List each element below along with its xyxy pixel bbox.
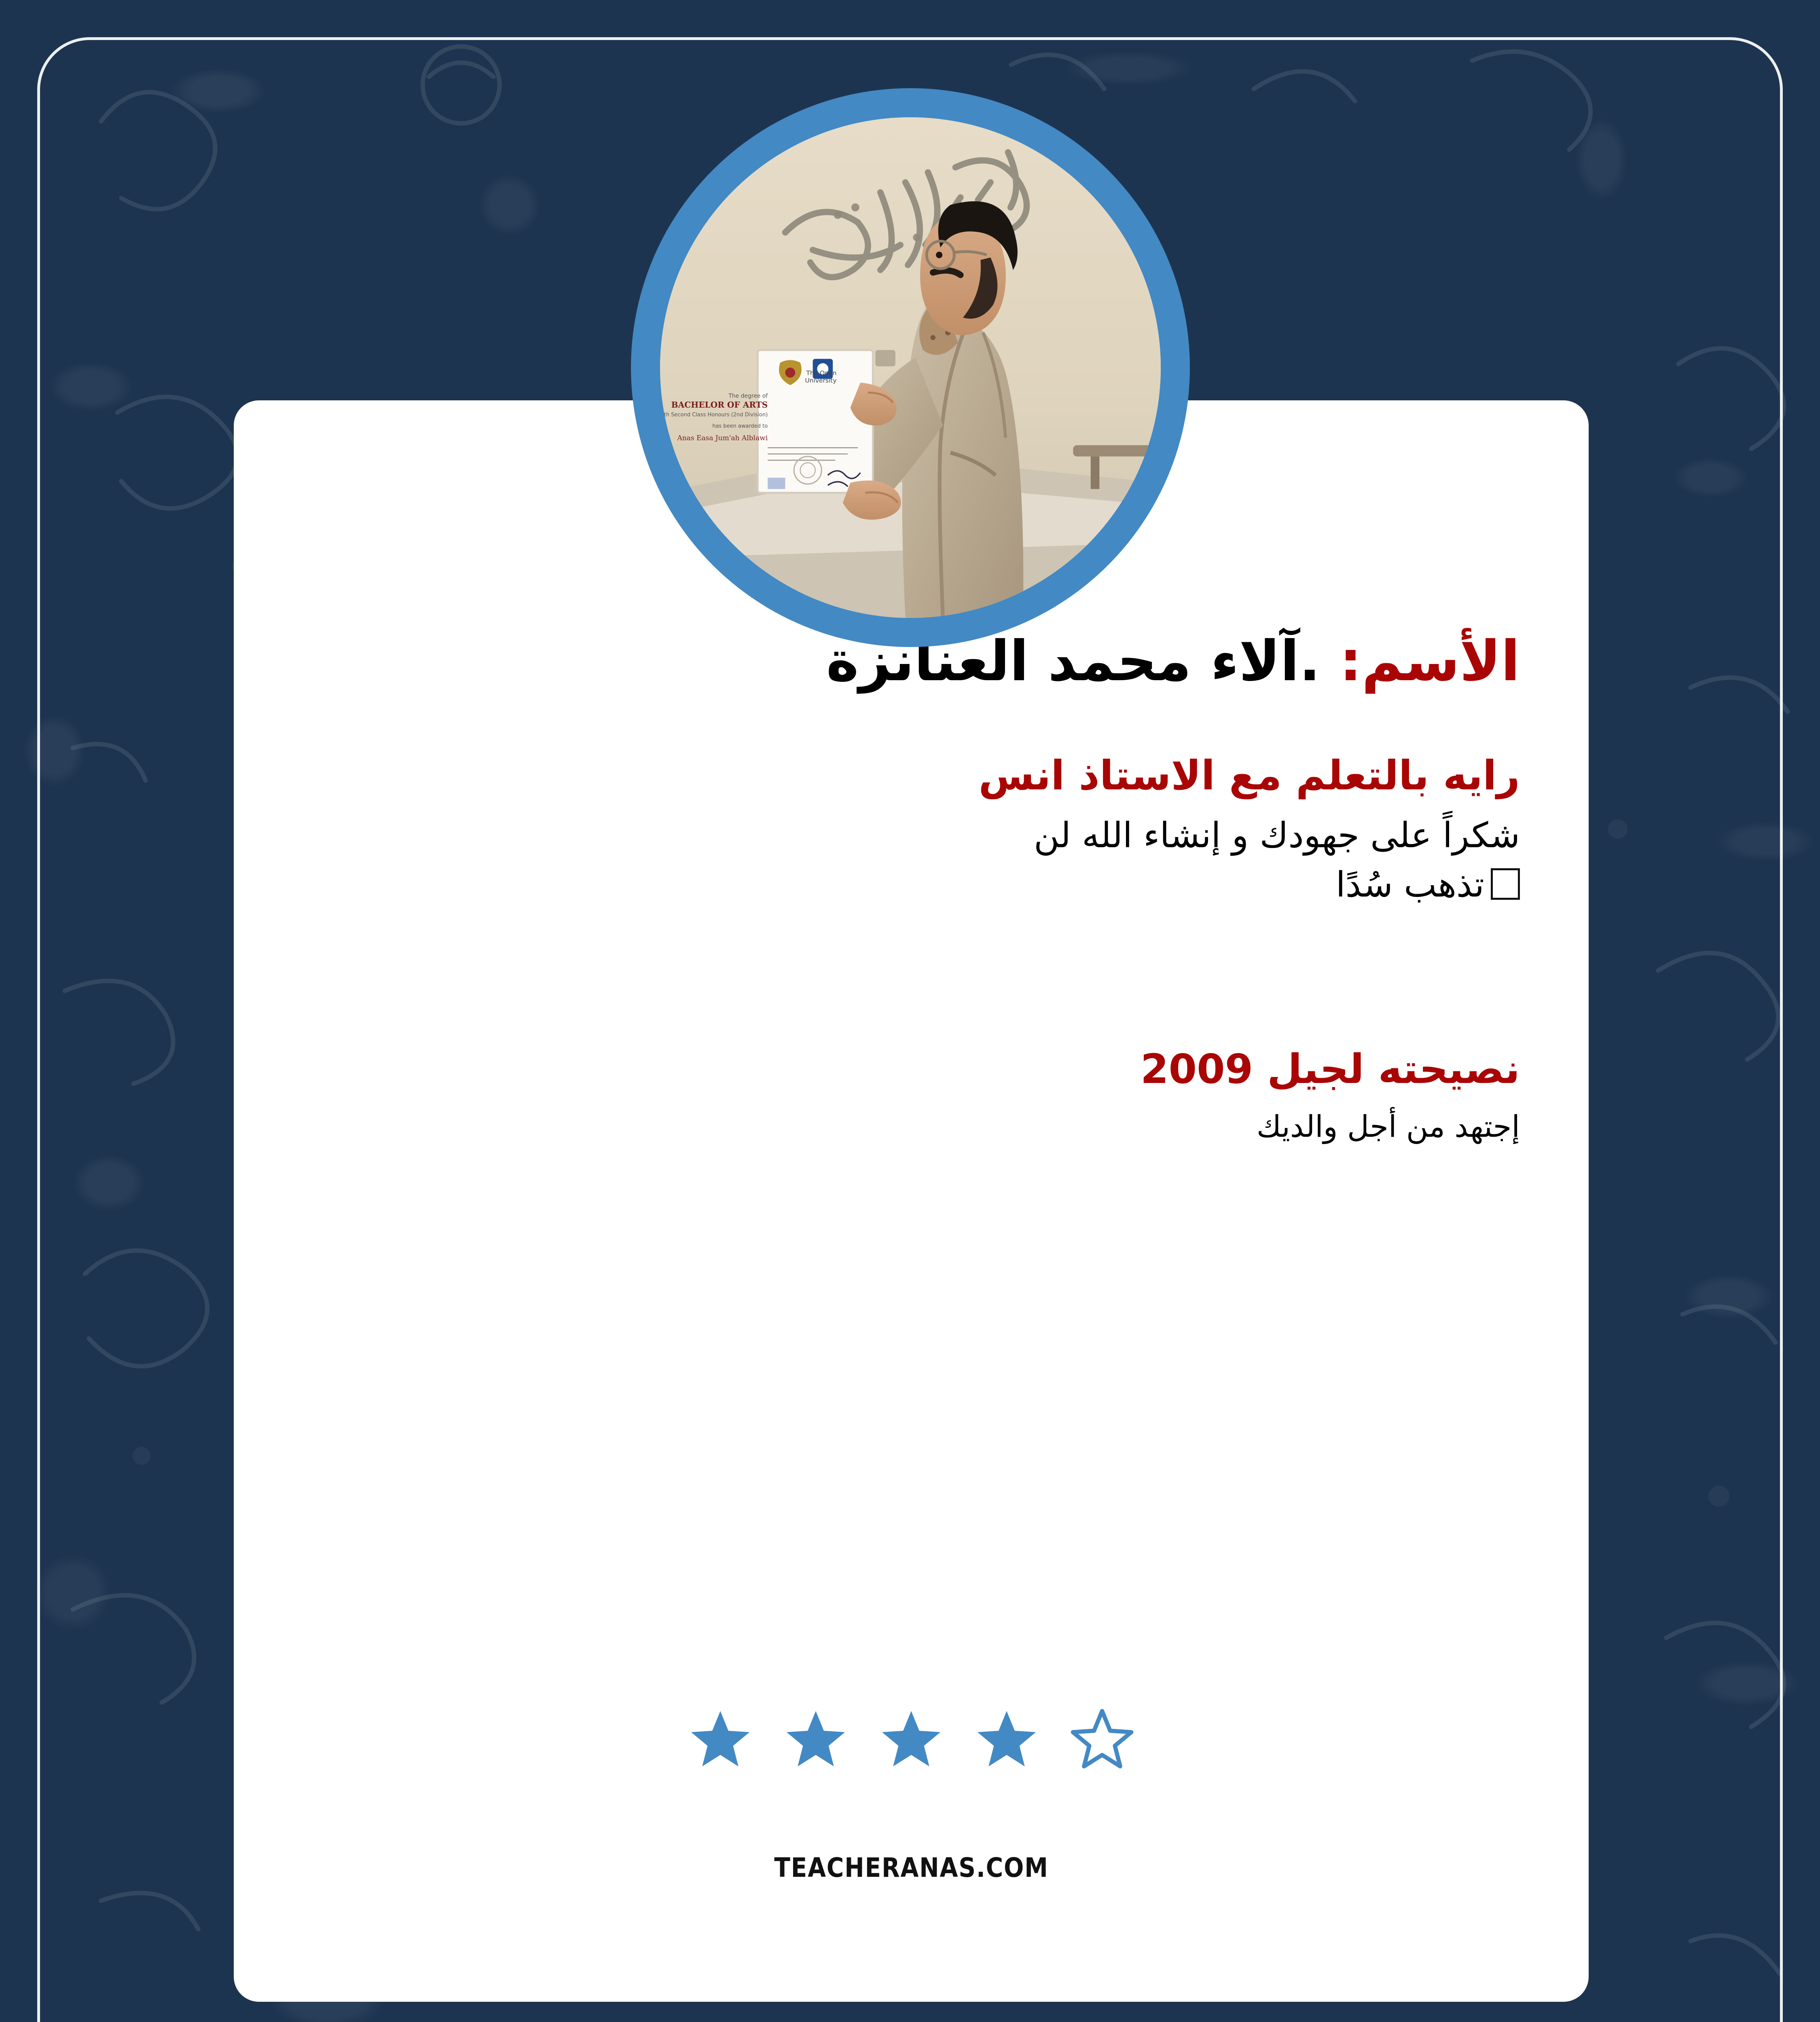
student-name-label: الأسم:: [1340, 629, 1520, 694]
card-footer: TEACHERANAS.COM: [234, 1852, 1589, 1883]
svg-text:The degree of: The degree of: [728, 393, 768, 399]
opinion-heading: رايه بالتعلم مع الاستاذ انس: [303, 749, 1520, 802]
svg-text:with Second Class Honours (2nd: with Second Class Honours (2nd Division): [660, 412, 768, 418]
teacher-photo-illustration: The Open University The degree of BACHEL…: [660, 117, 1161, 618]
svg-text:The Open: The Open: [806, 370, 836, 377]
svg-text:University: University: [805, 377, 836, 384]
testimonial-poster: الأسم: .آلاء محمد العنانزة رايه بالتعلم …: [0, 0, 1820, 2022]
svg-text:has been awarded to: has been awarded to: [712, 423, 768, 429]
svg-text:BACHELOR OF ARTS: BACHELOR OF ARTS: [671, 400, 768, 410]
star-filled-icon: [972, 1707, 1041, 1773]
website-url: TEACHERANAS.COM: [774, 1852, 1048, 1883]
star-filled-icon: [877, 1707, 946, 1773]
opinion-body-line-2: تذهب سُدًا: [1336, 865, 1484, 905]
star-filled-icon: [686, 1707, 755, 1773]
star-outline-icon: [1068, 1707, 1136, 1773]
advice-body: إجتهد من أجل والديك: [303, 1106, 1520, 1148]
opinion-body: شكراً على جهودك و إنشاء الله لن تذهب سُد…: [303, 811, 1520, 909]
avatar: The Open University The degree of BACHEL…: [631, 88, 1190, 647]
star-filled-icon: [781, 1707, 850, 1773]
avatar-photo: The Open University The degree of BACHEL…: [660, 117, 1161, 618]
opinion-body-line-1: شكراً على جهودك و إنشاء الله لن: [1034, 815, 1520, 856]
svg-text:Anas Easa Jum'ah Alblawi: Anas Easa Jum'ah Alblawi: [677, 434, 768, 442]
star-rating: [234, 1707, 1589, 1773]
card-content: الأسم: .آلاء محمد العنانزة رايه بالتعلم …: [234, 627, 1589, 1148]
missing-emoji-glyph-icon: [1491, 868, 1520, 900]
advice-heading: نصيحته لجيل 2009: [303, 1043, 1520, 1096]
